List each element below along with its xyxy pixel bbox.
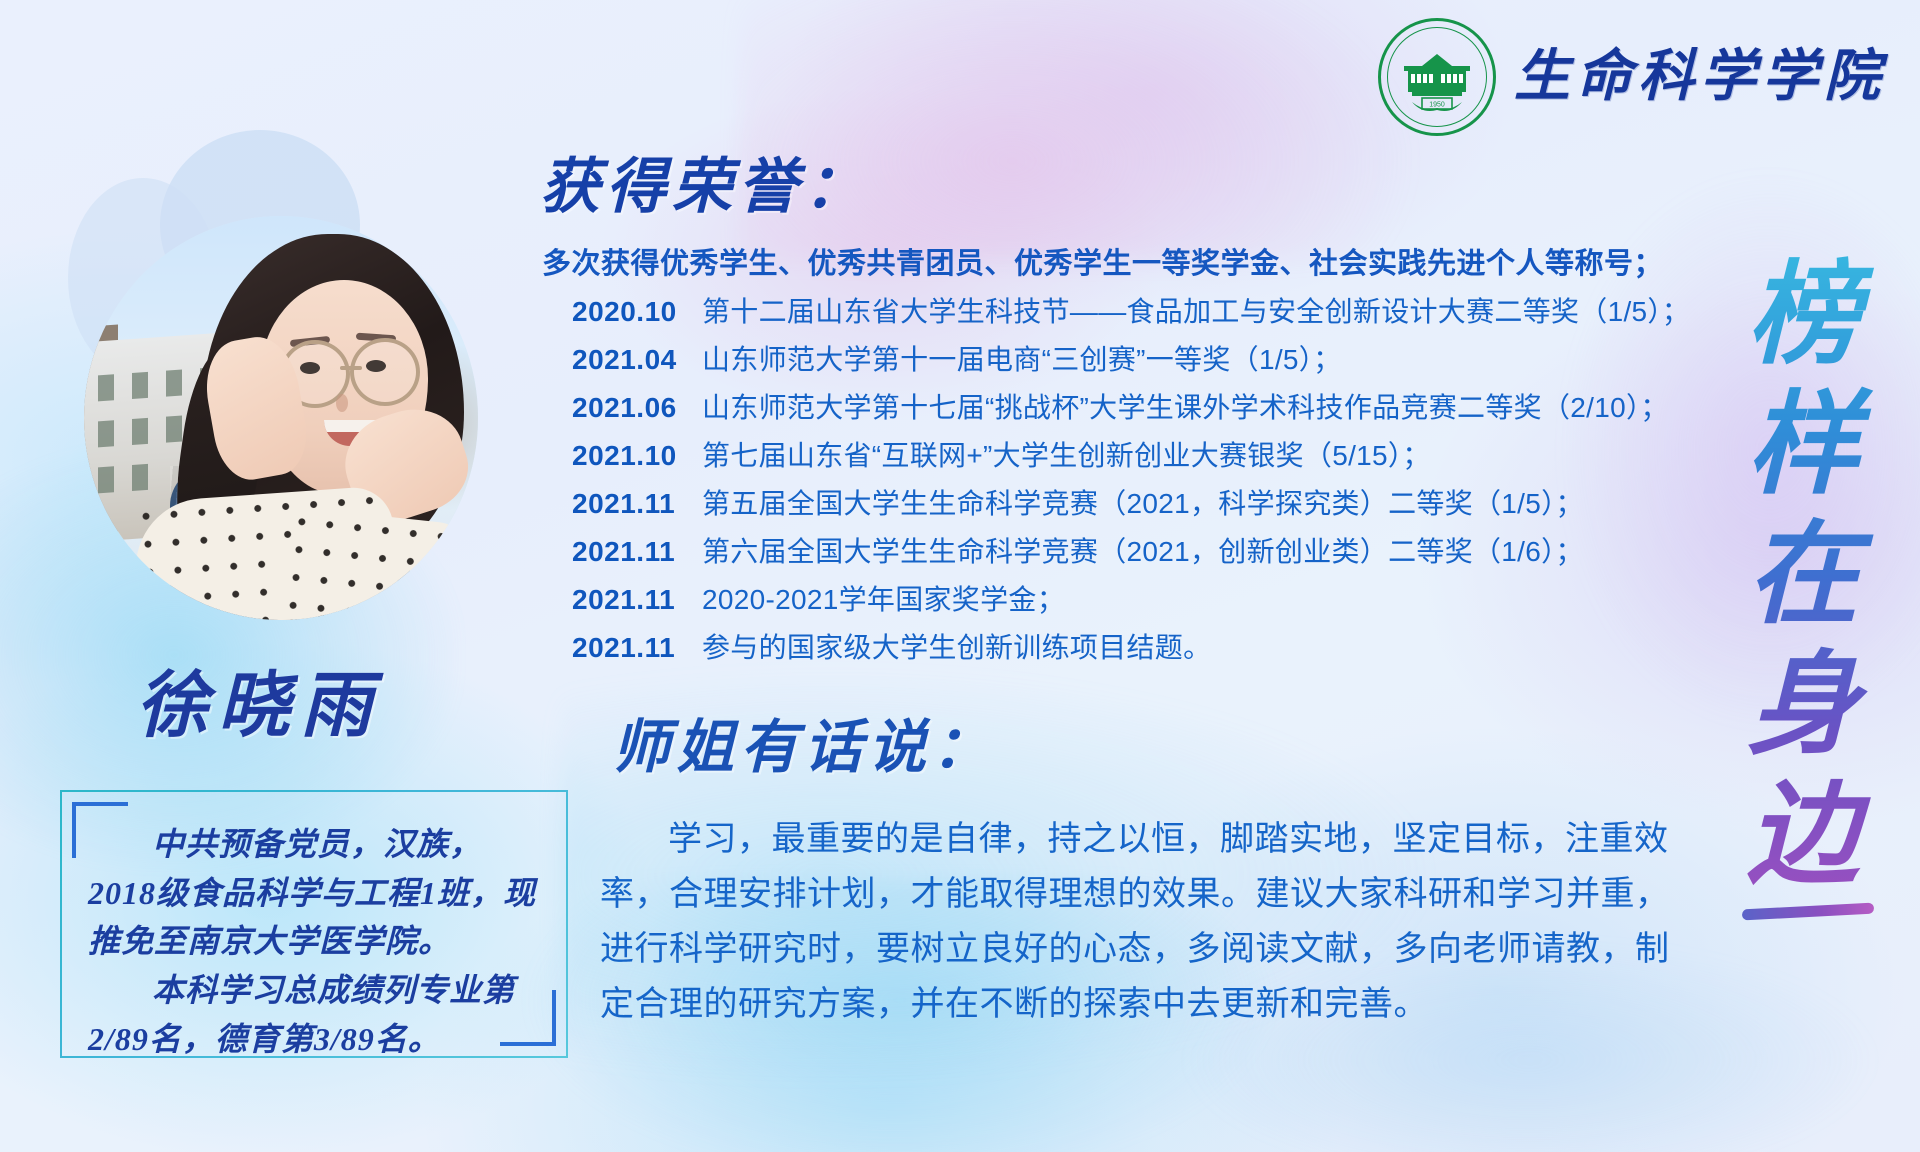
bio-line: 本科学习总成绩列专业第2/89名，德育第3/89名。	[88, 966, 544, 1063]
honor-date: 2021.11	[572, 488, 702, 520]
honor-text: 山东师范大学第十七届“挑战杯”大学生课外学术科技作品竞赛二等奖（2/10）；	[702, 386, 1669, 426]
honor-item: 2021.11 第五届全国大学生生命科学竞赛（2021，科学探究类）二等奖（1/…	[572, 482, 1690, 530]
honor-item: 2021.04 山东师范大学第十一届电商“三创赛”一等奖（1/5）；	[572, 338, 1690, 386]
honor-date: 2021.11	[572, 536, 702, 568]
honor-date: 2021.11	[572, 632, 702, 664]
student-name: 徐晓雨	[136, 646, 382, 751]
honors-lead-text: 多次获得优秀学生、优秀共青团员、优秀学生一等奖学金、社会实践先进个人等称号；	[542, 240, 1663, 282]
student-portrait	[38, 128, 498, 628]
slogan-char: 榜	[1708, 252, 1898, 382]
honor-text: 第五届全国大学生生命科学竞赛（2021，科学探究类）二等奖（1/5）；	[702, 482, 1584, 522]
poster-root: 1950 生命科学学院	[0, 0, 1920, 1152]
honor-text: 第七届山东省“互联网+”大学生创新创业大赛银奖（5/15）；	[702, 434, 1431, 474]
college-title: 生命科学学院	[1514, 49, 1886, 105]
honor-item: 2021.11 参与的国家级大学生创新训练项目结题。	[572, 626, 1690, 674]
honor-date: 2021.04	[572, 344, 702, 376]
slogan-underline-stroke	[1742, 903, 1874, 921]
honor-item: 2021.10 第七届山东省“互联网+”大学生创新创业大赛银奖（5/15）；	[572, 434, 1690, 482]
student-photo	[84, 216, 478, 620]
college-crest-logo: 1950	[1378, 18, 1496, 136]
honor-text: 第十二届山东省大学生科技节——食品加工与安全创新设计大赛二等奖（1/5）；	[702, 290, 1690, 330]
honor-item: 2020.10 第十二届山东省大学生科技节——食品加工与安全创新设计大赛二等奖（…	[572, 290, 1690, 338]
honor-date: 2021.11	[572, 584, 702, 616]
student-bio-text: 中共预备党员，汉族，2018级食品科学与工程1班，现推免至南京大学医学院。 本科…	[88, 820, 544, 1063]
bio-line: 中共预备党员，汉族，2018级食品科学与工程1班，现推免至南京大学医学院。	[88, 820, 544, 966]
honor-date: 2020.10	[572, 296, 702, 328]
slogan-char: 身	[1708, 642, 1898, 772]
poster-header: 1950 生命科学学院	[1378, 18, 1886, 136]
honor-date: 2021.06	[572, 392, 702, 424]
vertical-slogan: 榜 样 在 身 边	[1708, 252, 1898, 902]
svg-text:1950: 1950	[1429, 102, 1445, 109]
student-bio-box: 中共预备党员，汉族，2018级食品科学与工程1班，现推免至南京大学医学院。 本科…	[60, 790, 568, 1058]
honor-item: 2021.11 2020-2021学年国家奖学金；	[572, 578, 1690, 626]
advice-body-text: 学习，最重要的是自律，持之以恒，脚踏实地，坚定目标，注重效率，合理安排计划，才能…	[600, 812, 1690, 1032]
honor-date: 2021.10	[572, 440, 702, 472]
honor-text: 参与的国家级大学生创新训练项目结题。	[702, 626, 1211, 666]
honor-item: 2021.11 第六届全国大学生生命科学竞赛（2021，创新创业类）二等奖（1/…	[572, 530, 1690, 578]
honor-item: 2021.06 山东师范大学第十七届“挑战杯”大学生课外学术科技作品竞赛二等奖（…	[572, 386, 1690, 434]
honor-text: 第六届全国大学生生命科学竞赛（2021，创新创业类）二等奖（1/6）；	[702, 530, 1584, 570]
honor-text: 山东师范大学第十一届电商“三创赛”一等奖（1/5）；	[702, 338, 1341, 378]
honor-text: 2020-2021学年国家奖学金；	[702, 578, 1065, 618]
advice-section-title: 师姐有话说：	[612, 700, 996, 784]
honors-list: 2020.10 第十二届山东省大学生科技节——食品加工与安全创新设计大赛二等奖（…	[572, 290, 1690, 674]
slogan-char: 边	[1708, 772, 1898, 902]
slogan-char: 样	[1708, 382, 1898, 512]
honors-section-title: 获得荣誉：	[540, 138, 870, 225]
slogan-char: 在	[1708, 512, 1898, 642]
